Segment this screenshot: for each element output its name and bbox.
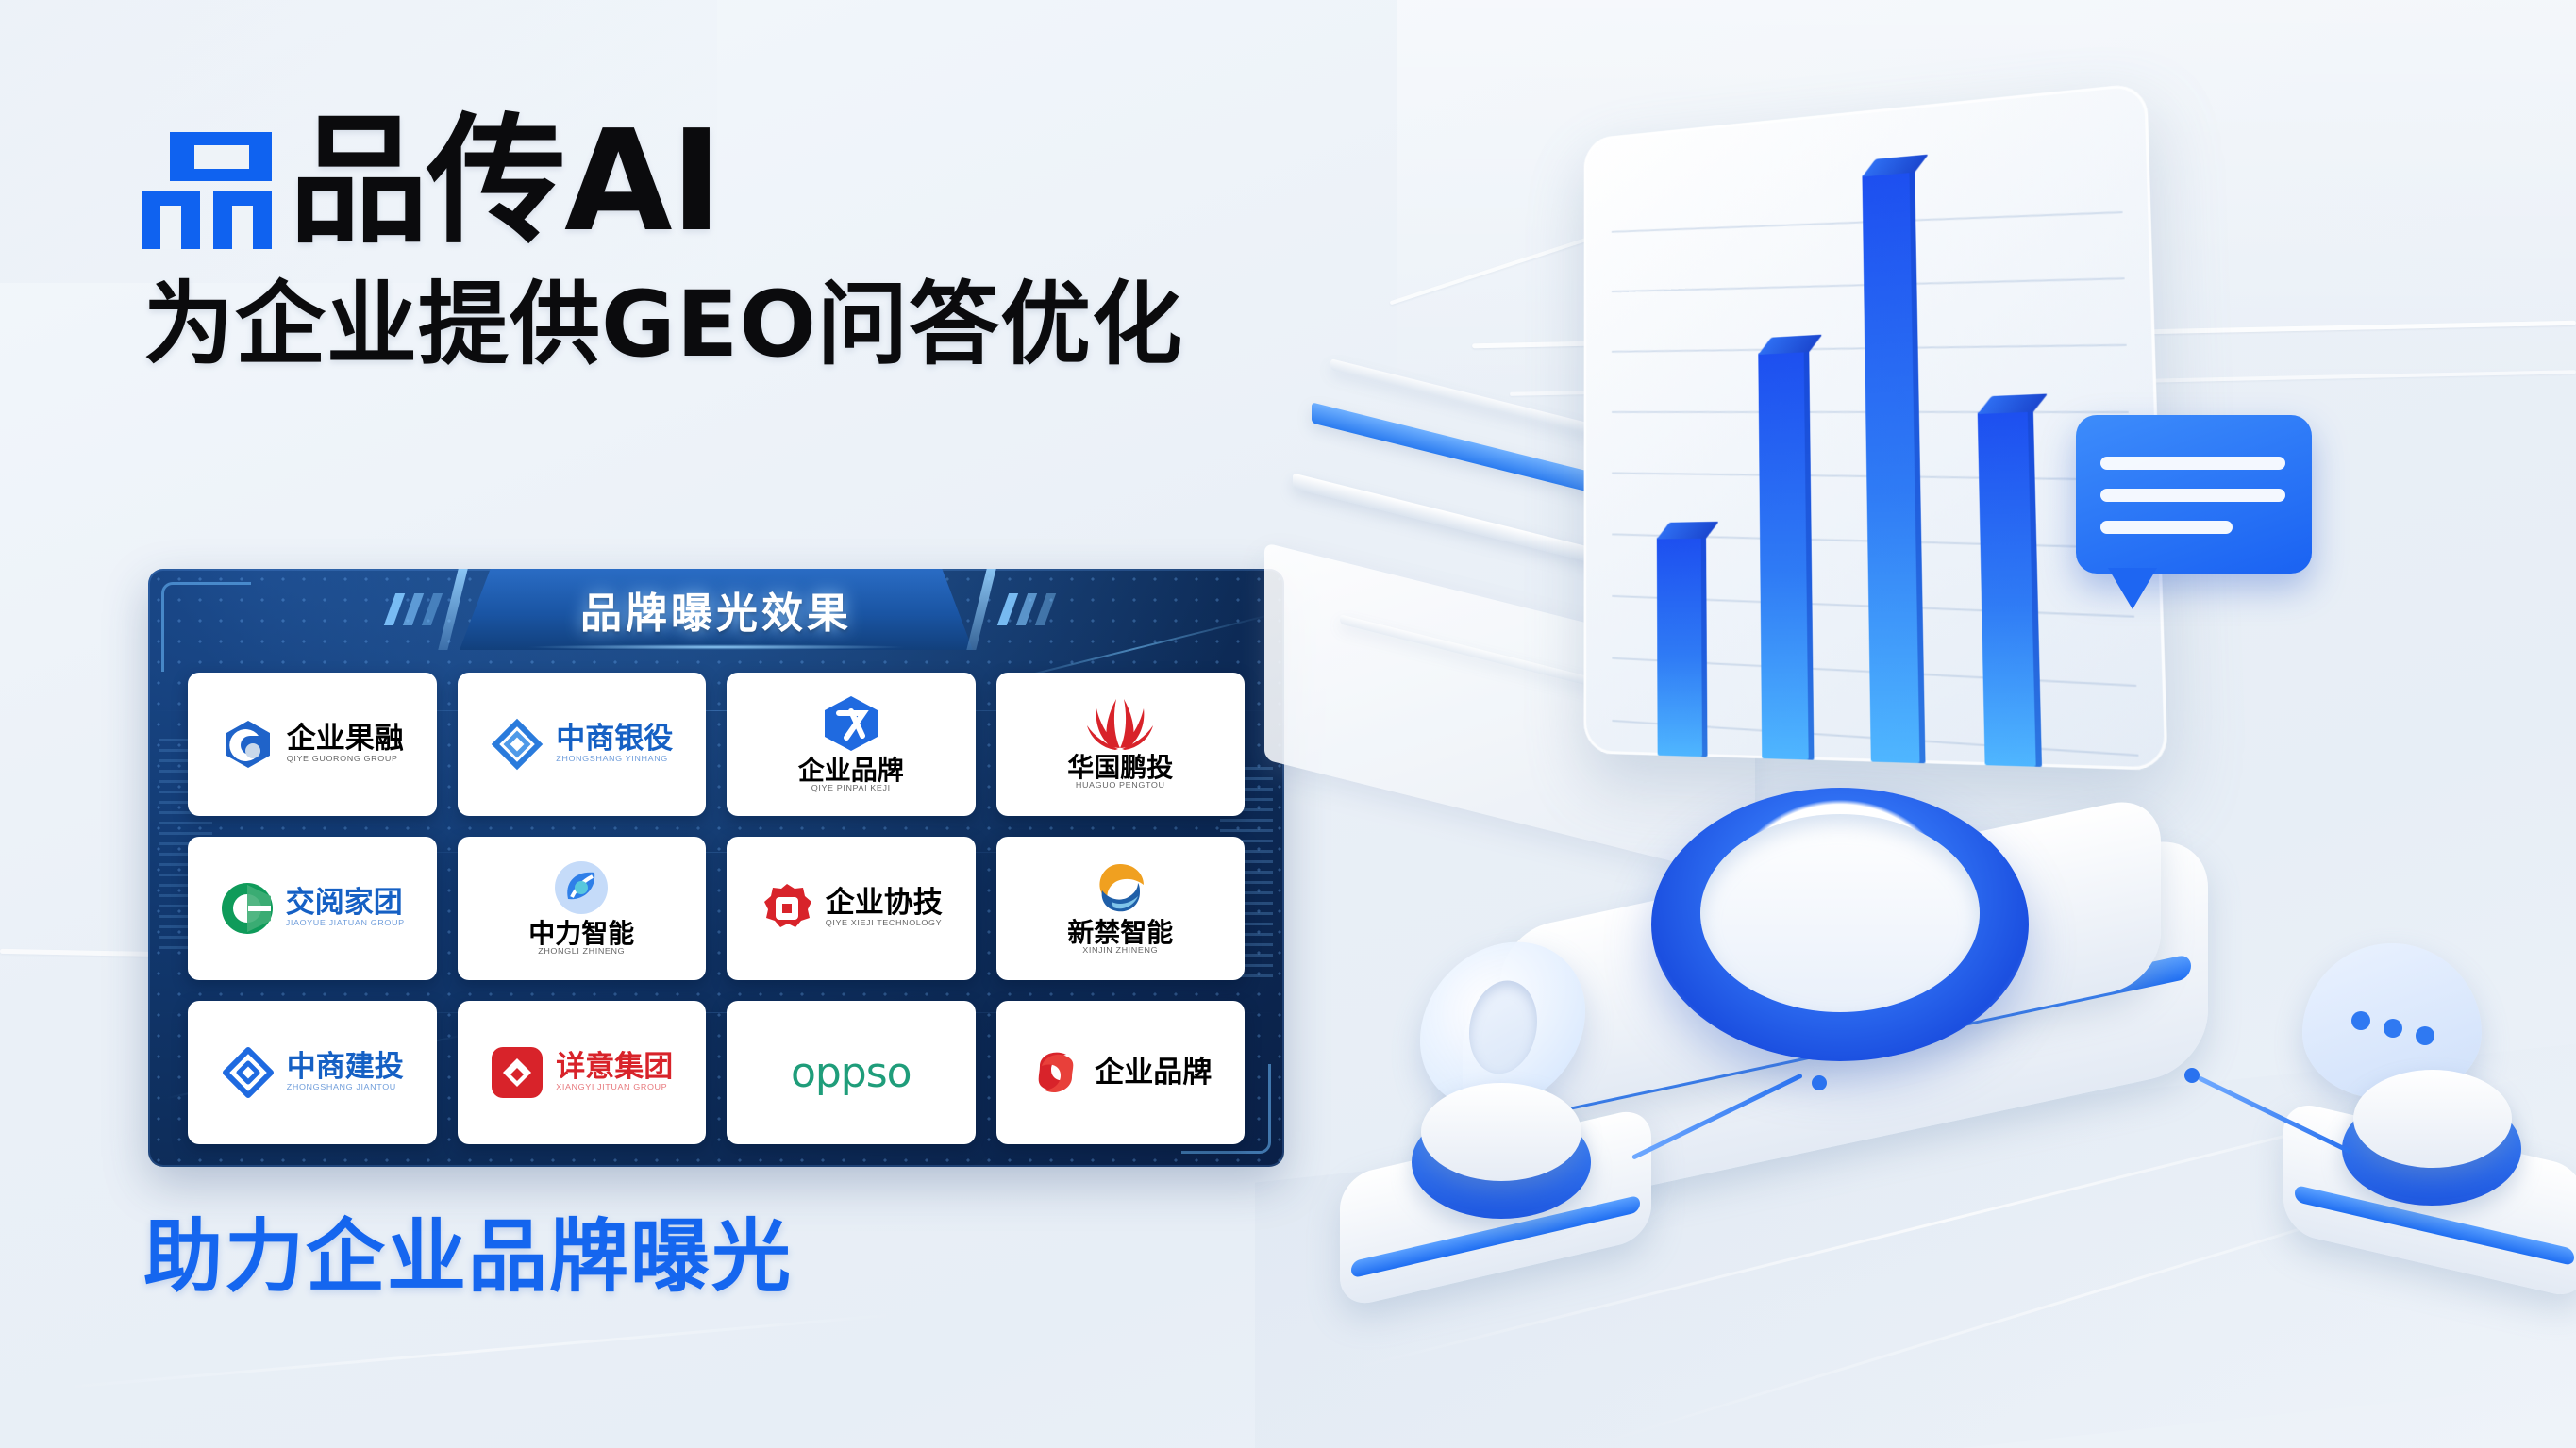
brand-name: 企业品牌 bbox=[798, 757, 904, 784]
brand-card[interactable]: 新禁智能 XINJIN ZHINENG bbox=[996, 837, 1246, 980]
brand-sub: XINJIN ZHINENG bbox=[1067, 946, 1173, 956]
connector-dot-left bbox=[1812, 1075, 1827, 1090]
blue-diamond-outline-icon bbox=[221, 1045, 276, 1100]
brand-card[interactable]: 企业果融 QIYE GUORONG GROUP bbox=[188, 673, 437, 816]
brand-name: 企业果融 bbox=[287, 724, 404, 755]
brand-name: 交阅家团 bbox=[286, 888, 405, 919]
3d-analytics-illustration bbox=[1321, 0, 2576, 1448]
brand-sub: ZHONGSHANG JIANTOU bbox=[287, 1083, 404, 1092]
brand-sub: HUAGUO PENGTOU bbox=[1067, 781, 1173, 791]
brand-sub: JIAOYUE JIATUAN GROUP bbox=[286, 919, 405, 928]
node-pod-right bbox=[2283, 1075, 2576, 1292]
red-swirl-heart-icon bbox=[1029, 1045, 1083, 1100]
brand-name: 详意集团 bbox=[556, 1052, 673, 1083]
brand-name: 中力智能 bbox=[528, 920, 634, 947]
brand-name: 企业协技 bbox=[826, 888, 943, 919]
brand-lockup: 品传AI bbox=[142, 111, 721, 251]
red-rounded-diamond-icon bbox=[490, 1045, 544, 1100]
page-headline: 为企业提供GEO问答优化 bbox=[143, 279, 1183, 370]
brand-sub: QIYE XIEJI TECHNOLOGY bbox=[826, 919, 943, 928]
panel-header-banner: 品牌曝光效果 bbox=[148, 569, 1284, 650]
layered-diamond-icon bbox=[490, 717, 544, 772]
page-footline: 助力企业品牌曝光 bbox=[143, 1217, 793, 1296]
blue-leaf-circle-icon bbox=[553, 859, 610, 916]
brand-card[interactable]: 中商银役 ZHONGSHANG YINHANG bbox=[458, 673, 707, 816]
green-circle-split-icon bbox=[220, 881, 275, 936]
stacked-squares-icon bbox=[142, 132, 272, 250]
brand-sub: QIYE GUORONG GROUP bbox=[287, 755, 404, 764]
brand-exposure-panel: 品牌曝光效果 企业果融 QIYE GUORONG GROUP bbox=[148, 569, 1284, 1167]
brand-card[interactable]: 详意集团 XIANGYI JITUAN GROUP bbox=[458, 1001, 707, 1144]
red-petal-flower-icon bbox=[1085, 697, 1155, 750]
brand-card[interactable]: 企业协技 QIYE XIEJI TECHNOLOGY bbox=[727, 837, 976, 980]
brand-name: 企业品牌 bbox=[1095, 1057, 1212, 1089]
c-shield-icon bbox=[221, 717, 276, 772]
brand-name: 中商建投 bbox=[287, 1052, 404, 1083]
brand-card[interactable]: 中商建投 ZHONGSHANG JIANTOU bbox=[188, 1001, 437, 1144]
brand-sub: XIANGYI JITUAN GROUP bbox=[556, 1083, 673, 1092]
brand-sub: ZHONGLI ZHINENG bbox=[528, 947, 634, 957]
brand-card[interactable]: 企业品牌 QIYE PINPAI KEJI bbox=[727, 673, 976, 816]
panel-title: 品牌曝光效果 bbox=[148, 569, 1284, 650]
orange-blue-swirl-icon bbox=[1091, 860, 1149, 915]
brand-title: 品传AI bbox=[289, 111, 721, 251]
brand-card[interactable]: 交阅家团 JIAOYUE JIATUAN GROUP bbox=[188, 837, 437, 980]
brand-sub: ZHONGSHANG YINHANG bbox=[556, 755, 673, 764]
brand-card[interactable]: 中力智能 ZHONGLI ZHINENG bbox=[458, 837, 707, 980]
brand-card[interactable]: 企业品牌 bbox=[996, 1001, 1246, 1144]
chat-bubble-icon bbox=[2076, 415, 2312, 574]
hexagon-arrow-icon bbox=[820, 694, 882, 753]
connector-dot-right bbox=[2184, 1068, 2200, 1083]
brand-name: oppso bbox=[791, 1049, 912, 1097]
brand-name: 中商银役 bbox=[556, 724, 673, 755]
brand-name: 新禁智能 bbox=[1067, 919, 1173, 946]
brand-logo-grid: 企业果融 QIYE GUORONG GROUP 中商银役 ZHONGSHANG … bbox=[188, 673, 1245, 1144]
brand-name: 华国鹏投 bbox=[1067, 754, 1173, 781]
node-pod-left bbox=[1340, 1085, 1661, 1302]
poster-canvas: 品传AI 为企业提供GEO问答优化 助力企业品牌曝光 品牌曝光效果 bbox=[0, 0, 2576, 1448]
red-gear-square-icon bbox=[760, 881, 814, 936]
brand-sub: QIYE PINPAI KEJI bbox=[798, 784, 904, 793]
brand-card[interactable]: 华国鹏投 HUAGUO PENGTOU bbox=[996, 673, 1246, 816]
brand-card[interactable]: oppso bbox=[727, 1001, 976, 1144]
